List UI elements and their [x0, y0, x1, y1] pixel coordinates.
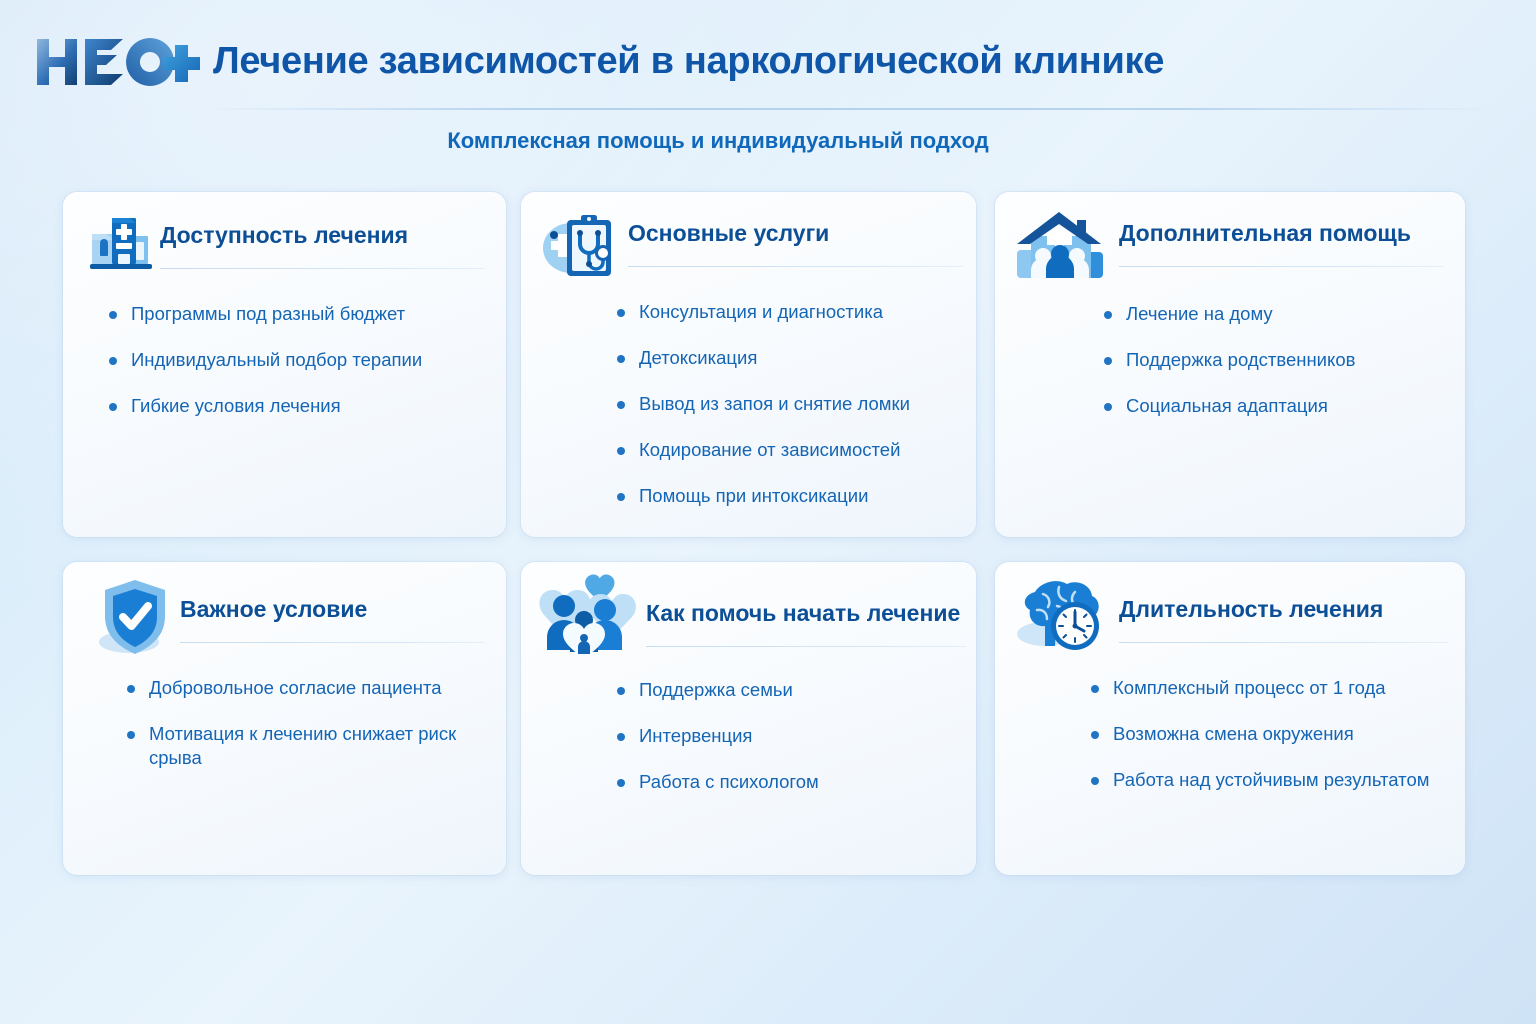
brain-clock-icon: [1013, 576, 1109, 661]
shield-check-icon: [95, 576, 175, 663]
list-item: Поддержка семьи: [613, 678, 963, 702]
card-bullet-list: Комплексный процесс от 1 года Возможна с…: [1087, 676, 1457, 792]
infographic-page: HEO+ Лечение зависимостей в наркологичес…: [0, 0, 1536, 1024]
hospital-building-icon: [88, 210, 160, 281]
card-title: Как помочь начать лечение: [646, 600, 960, 627]
card-title: Важное условие: [180, 596, 367, 623]
list-item: Работа над устойчивым результатом: [1087, 768, 1457, 792]
card-divider: [1119, 266, 1444, 267]
card-dostupnost-lecheniya[interactable]: Доступность лечения Программы под разный…: [63, 192, 506, 537]
card-dlitelnost-lecheniya[interactable]: Длительность лечения Комплексный процесс…: [995, 562, 1465, 875]
list-item: Добровольное согласие пациента: [123, 676, 493, 700]
list-item: Помощь при интоксикации: [613, 484, 963, 508]
card-bullet-list: Поддержка семьи Интервенция Работа с пси…: [613, 678, 963, 794]
card-divider: [628, 266, 963, 267]
card-title: Доступность лечения: [160, 222, 408, 249]
list-item: Индивидуальный подбор терапии: [105, 348, 490, 372]
list-item: Поддержка родственников: [1100, 348, 1450, 372]
card-title: Основные услуги: [628, 220, 829, 247]
list-item: Консультация и диагностика: [613, 300, 963, 324]
card-bullet-list: Программы под разный бюджет Индивидуальн…: [105, 302, 490, 418]
list-item: Возможна смена окружения: [1087, 722, 1457, 746]
list-item: Лечение на дому: [1100, 302, 1450, 326]
clipboard-stethoscope-icon: [533, 208, 619, 289]
list-item: Кодирование от зависимостей: [613, 438, 963, 462]
card-dopolnitelnaya-pomoshch[interactable]: Дополнительная помощь Лечение на дому По…: [995, 192, 1465, 537]
house-family-cross-icon: [1015, 208, 1109, 291]
card-divider: [180, 642, 485, 643]
list-item: Программы под разный бюджет: [105, 302, 490, 326]
card-bullet-list: Консультация и диагностика Детоксикация …: [613, 300, 963, 508]
family-heart-icon: [533, 572, 637, 667]
card-divider: [646, 646, 966, 647]
card-divider: [1119, 642, 1449, 643]
card-title: Длительность лечения: [1119, 596, 1383, 623]
list-item: Гибкие условия лечения: [105, 394, 490, 418]
card-osnovnye-uslugi[interactable]: Основные услуги Консультация и диагности…: [521, 192, 976, 537]
card-divider: [160, 268, 485, 269]
card-kak-pomoch-nachat-lechenie[interactable]: Как помочь начать лечение Поддержка семь…: [521, 562, 976, 875]
card-bullet-list: Добровольное согласие пациента Мотивация…: [123, 676, 493, 770]
list-item: Вывод из запоя и снятие ломки: [613, 392, 963, 416]
list-item: Мотивация к лечению снижает риск срыва: [123, 722, 493, 770]
cards-grid: Доступность лечения Программы под разный…: [0, 0, 1536, 1024]
list-item: Комплексный процесс от 1 года: [1087, 676, 1457, 700]
list-item: Работа с психологом: [613, 770, 963, 794]
list-item: Социальная адаптация: [1100, 394, 1450, 418]
card-bullet-list: Лечение на дому Поддержка родственников …: [1100, 302, 1450, 418]
list-item: Детоксикация: [613, 346, 963, 370]
list-item: Интервенция: [613, 724, 963, 748]
card-vazhnoe-uslovie[interactable]: Важное условие Добровольное согласие пац…: [63, 562, 506, 875]
card-title: Дополнительная помощь: [1119, 220, 1411, 247]
